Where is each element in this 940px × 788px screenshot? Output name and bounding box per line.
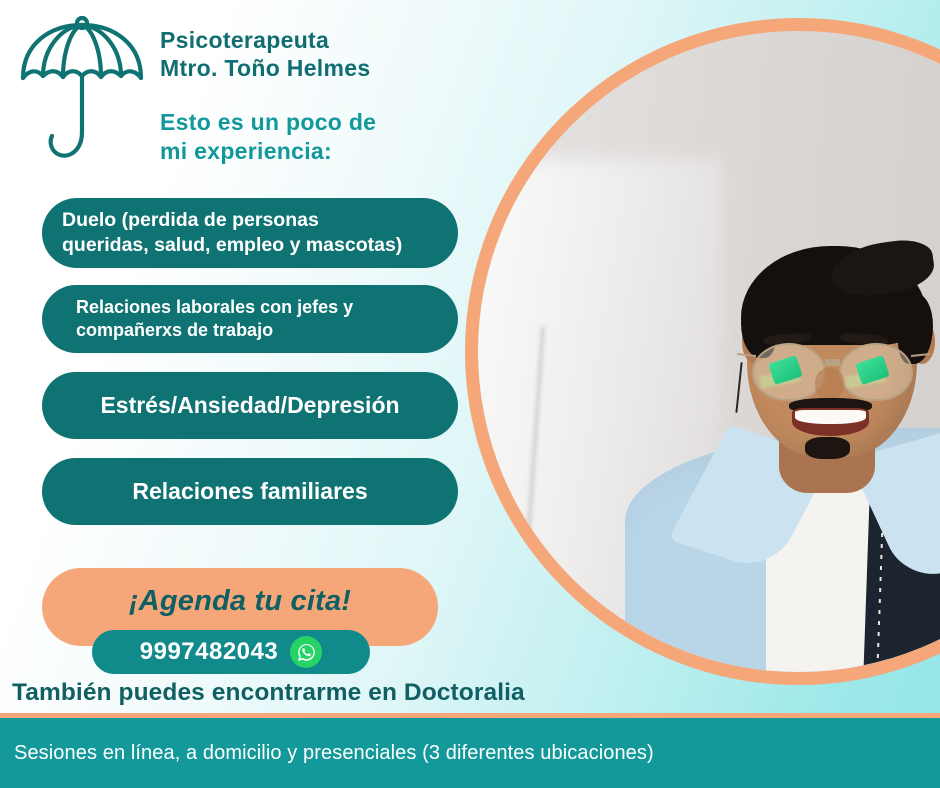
service-pill-estres-ansiedad-depresion[interactable]: Estrés/Ansiedad/Depresión <box>42 372 458 439</box>
eyeglass-lens-right <box>839 343 913 402</box>
teeth <box>795 410 866 425</box>
header-title-block: Psicoterapeuta Mtro. Toño Helmes <box>160 26 370 82</box>
schedule-appointment-label: ¡Agenda tu cita! <box>129 585 351 618</box>
phone-contact-button[interactable]: 9997482043 <box>92 630 370 674</box>
profile-photo <box>478 31 940 672</box>
service-line-1: Relaciones laborales con jefes y <box>76 297 353 317</box>
umbrella-icon <box>18 14 146 177</box>
nose <box>815 368 844 400</box>
service-pill-text: Relaciones familiares <box>116 477 383 507</box>
profile-photo-circle <box>465 18 940 685</box>
mouth <box>792 408 869 436</box>
service-pill-text: Duelo (perdida de personas queridas, sal… <box>42 208 458 259</box>
eyeglass-cord <box>736 362 743 413</box>
chin-beard <box>805 437 850 459</box>
footer-text: Sesiones en línea, a domicilio y presenc… <box>0 742 654 765</box>
profession-label: Psicoterapeuta <box>160 26 370 54</box>
phone-number: 9997482043 <box>140 638 278 666</box>
footer-bar: Sesiones en línea, a domicilio y presenc… <box>0 718 940 788</box>
therapist-name: Mtro. Toño Helmes <box>160 54 370 82</box>
poster-canvas: Psicoterapeuta Mtro. Toño Helmes Esto es… <box>0 0 940 788</box>
service-line-2: queridas, salud, empleo y mascotas) <box>62 234 402 256</box>
service-pill-duelo[interactable]: Duelo (perdida de personas queridas, sal… <box>42 198 458 268</box>
service-pill-relaciones-familiares[interactable]: Relaciones familiares <box>42 458 458 525</box>
intro-block: Esto es un poco de mi experiencia: <box>160 108 376 167</box>
service-pill-relaciones-laborales[interactable]: Relaciones laborales con jefes y compañe… <box>42 285 458 353</box>
service-pill-text: Relaciones laborales con jefes y compañe… <box>42 296 458 343</box>
service-line-2: compañerxs de trabajo <box>76 320 273 340</box>
service-line-1: Duelo (perdida de personas <box>62 209 319 231</box>
intro-line-1: Esto es un poco de <box>160 108 376 137</box>
whatsapp-icon[interactable] <box>290 636 322 668</box>
eyeglass-bridge <box>825 359 840 365</box>
doctoralia-text: También puedes encontrarme en Doctoralia <box>12 679 525 707</box>
eyeglass-lens-left <box>752 343 826 402</box>
therapist-portrait <box>478 31 940 672</box>
service-pill-text: Estrés/Ansiedad/Depresión <box>84 391 415 421</box>
intro-line-2: mi experiencia: <box>160 137 376 166</box>
